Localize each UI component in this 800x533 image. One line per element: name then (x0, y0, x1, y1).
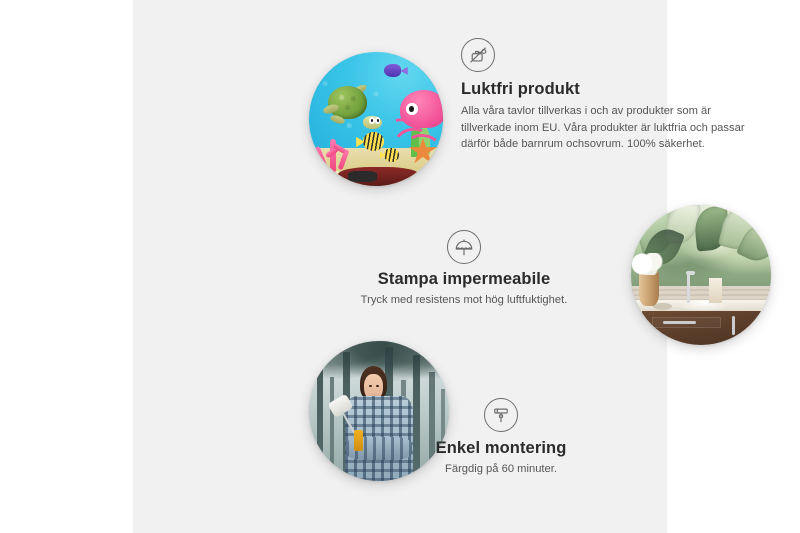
tree-trunk (317, 361, 323, 481)
feature-title: Luktfri produkt (461, 80, 751, 99)
turtle-eye (369, 117, 374, 123)
sea-turtle (328, 86, 382, 132)
feature-title: Stampa impermeabile (333, 270, 595, 289)
octopus (384, 90, 443, 152)
coral-branch (315, 146, 328, 170)
octopus-eye (406, 103, 418, 116)
eye (376, 385, 379, 387)
feature-waterproof: Stampa impermeabile Tryck med resistens … (333, 230, 595, 309)
cabinet-handle (663, 321, 696, 324)
tree-trunk (330, 377, 334, 481)
feature-odourless: Luktfri produkt Alla våra tavlor tillver… (461, 38, 751, 153)
feature-panel: Luktfri produkt Alla våra tavlor tillver… (133, 0, 667, 533)
soap-dish (653, 303, 671, 310)
fish-body (363, 132, 384, 151)
white-flowers (632, 253, 666, 275)
feature-assembly: Enkel montering Färgdig på 60 minuter. (401, 398, 601, 478)
fish-body (384, 64, 401, 77)
cabinet-handle (732, 316, 735, 335)
blue-fish (384, 64, 401, 77)
turtle-eye (375, 117, 380, 123)
umbrella-icon (447, 230, 481, 264)
turtle-head (363, 116, 382, 130)
eye (369, 385, 372, 387)
bathroom-scene (631, 205, 771, 345)
feature-description: Färgdig på 60 minuter. (401, 461, 601, 478)
octopus-head (400, 90, 443, 128)
feature-description: Alla våra tavlor tillverkas i och av pro… (461, 103, 751, 153)
fish-body (384, 148, 399, 161)
yellow-striped-fish (384, 148, 399, 161)
coral-cluster (314, 130, 354, 173)
no-fragrance-icon (461, 38, 495, 72)
screenshot-root: Luktfri produkt Alla våra tavlor tillver… (0, 0, 800, 533)
yellow-striped-fish (363, 132, 384, 151)
underwater-scene (309, 52, 443, 186)
wood-vanity-cabinet (642, 311, 771, 345)
soap-dispenser (709, 278, 722, 303)
feature-title: Enkel montering (401, 439, 601, 458)
underwater-kids-mural-photo (309, 52, 443, 186)
bathroom-tropical-wallpaper-photo (631, 205, 771, 345)
faucet (687, 275, 690, 303)
paint-roller-icon (484, 398, 518, 432)
paint-tool (354, 430, 363, 451)
feature-description: Tryck med resistens mot hög luftfuktighe… (333, 292, 595, 309)
